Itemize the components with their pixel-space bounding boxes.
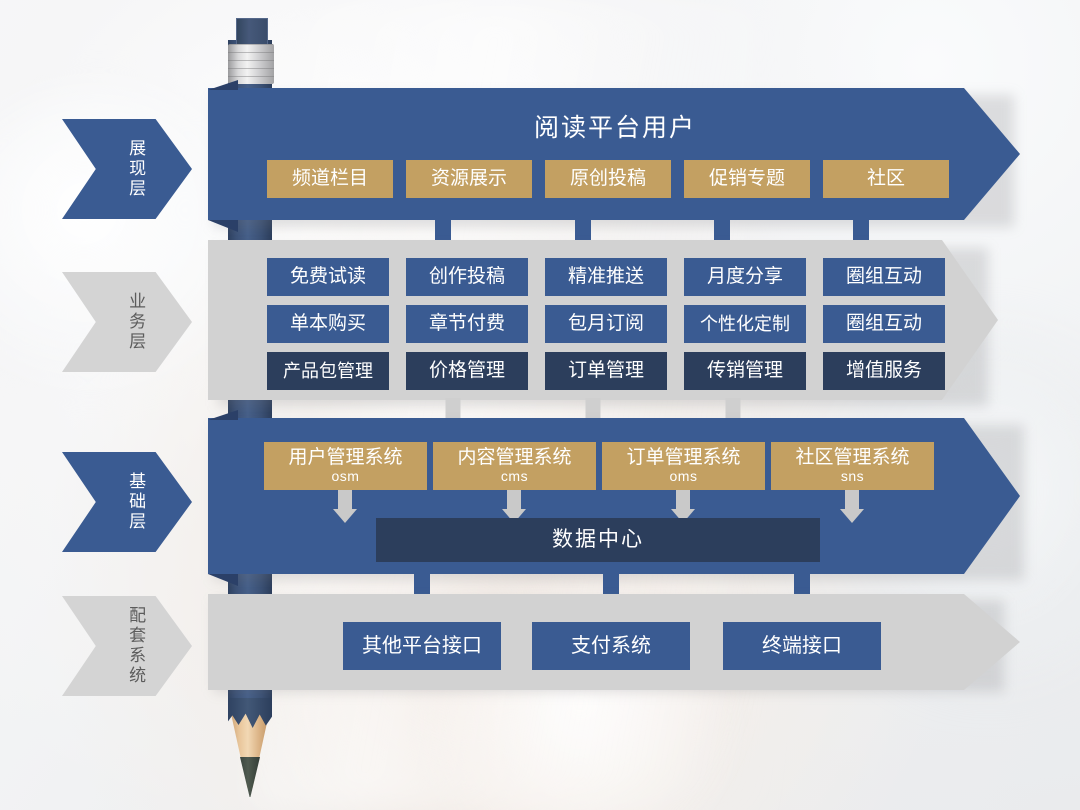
business-r2-c0[interactable]: 产品包管理 — [267, 352, 389, 390]
presentation-item-3[interactable]: 促销专题 — [684, 160, 810, 198]
foundation-system-2[interactable]: 订单管理系统 oms — [602, 442, 765, 490]
data-center-box[interactable]: 数据中心 — [376, 518, 820, 562]
business-r1-c1[interactable]: 章节付费 — [406, 305, 528, 343]
foundation-system-1[interactable]: 内容管理系统 cms — [433, 442, 596, 490]
presentation-item-2[interactable]: 原创投稿 — [545, 160, 671, 198]
pencil-ferrule — [228, 44, 274, 84]
page-title: 阅读平台用户 — [240, 108, 990, 144]
business-r1-c4-label: 圈组互动 — [846, 313, 922, 334]
business-r1-c0[interactable]: 单本购买 — [267, 305, 389, 343]
foundation-system-0[interactable]: 用户管理系统 osm — [264, 442, 427, 490]
business-r0-c3-label: 月度分享 — [707, 266, 783, 287]
support-item-0[interactable]: 其他平台接口 — [343, 622, 501, 670]
foundation-system-1-name: 内容管理系统 — [457, 447, 571, 468]
support-item-0-label: 其他平台接口 — [362, 635, 482, 657]
business-r0-c4-label: 圈组互动 — [846, 266, 922, 287]
business-r2-c0-label: 产品包管理 — [283, 361, 373, 381]
presentation-item-1[interactable]: 资源展示 — [406, 160, 532, 198]
business-r2-c1[interactable]: 价格管理 — [406, 352, 528, 390]
business-r2-c2-label: 订单管理 — [568, 360, 644, 381]
layer-label-presentation: 展现层 — [110, 139, 144, 199]
business-r1-c4[interactable]: 圈组互动 — [823, 305, 945, 343]
layer-label-business: 业务层 — [110, 292, 144, 352]
presentation-item-1-label: 资源展示 — [431, 168, 507, 189]
business-r0-c4[interactable]: 圈组互动 — [823, 258, 945, 296]
foundation-system-3-code: sns — [841, 469, 864, 485]
business-r1-c1-label: 章节付费 — [429, 313, 505, 334]
business-r2-c2[interactable]: 订单管理 — [545, 352, 667, 390]
business-r1-c2-label: 包月订阅 — [568, 313, 644, 334]
business-r2-c3[interactable]: 传销管理 — [684, 352, 806, 390]
business-r0-c0-label: 免费试读 — [290, 266, 366, 287]
architecture-diagram: 展现层 阅读平台用户 频道栏目 资源展示 原创投稿 促销专题 社区 业务层 免费… — [0, 0, 1080, 810]
arrow-system-to-datacenter-0 — [333, 490, 357, 522]
business-r2-c4[interactable]: 增值服务 — [823, 352, 945, 390]
business-r0-c2[interactable]: 精准推送 — [545, 258, 667, 296]
support-item-2[interactable]: 终端接口 — [723, 622, 881, 670]
business-r0-c1[interactable]: 创作投稿 — [406, 258, 528, 296]
business-r0-c0[interactable]: 免费试读 — [267, 258, 389, 296]
foundation-system-0-name: 用户管理系统 — [288, 447, 402, 468]
business-r1-c0-label: 单本购买 — [290, 313, 366, 334]
presentation-item-2-label: 原创投稿 — [570, 168, 646, 189]
foundation-system-1-code: cms — [501, 469, 528, 485]
foundation-system-3-name: 社区管理系统 — [795, 447, 909, 468]
business-r2-c3-label: 传销管理 — [707, 360, 783, 381]
foundation-system-2-code: oms — [670, 469, 698, 485]
support-item-2-label: 终端接口 — [762, 635, 842, 657]
presentation-item-0-label: 频道栏目 — [292, 168, 368, 189]
business-r0-c2-label: 精准推送 — [568, 266, 644, 287]
data-center-label: 数据中心 — [552, 528, 644, 552]
arrow-system-to-datacenter-3 — [840, 490, 864, 522]
presentation-item-4[interactable]: 社区 — [823, 160, 949, 198]
presentation-item-0[interactable]: 频道栏目 — [267, 160, 393, 198]
presentation-item-3-label: 促销专题 — [709, 168, 785, 189]
business-r0-c3[interactable]: 月度分享 — [684, 258, 806, 296]
support-item-1[interactable]: 支付系统 — [532, 622, 690, 670]
support-item-1-label: 支付系统 — [571, 635, 651, 657]
layer-label-support: 配套系统 — [110, 606, 144, 686]
business-r1-c3[interactable]: 个性化定制 — [684, 305, 806, 343]
foundation-system-3[interactable]: 社区管理系统 sns — [771, 442, 934, 490]
business-r0-c1-label: 创作投稿 — [429, 266, 505, 287]
business-r1-c2[interactable]: 包月订阅 — [545, 305, 667, 343]
foundation-system-2-name: 订单管理系统 — [626, 447, 740, 468]
foundation-system-0-code: osm — [332, 469, 360, 485]
presentation-item-4-label: 社区 — [867, 168, 905, 189]
business-r1-c3-label: 个性化定制 — [700, 314, 790, 334]
business-r2-c1-label: 价格管理 — [429, 360, 505, 381]
layer-label-foundation: 基础层 — [110, 472, 144, 532]
business-r2-c4-label: 增值服务 — [846, 360, 922, 381]
